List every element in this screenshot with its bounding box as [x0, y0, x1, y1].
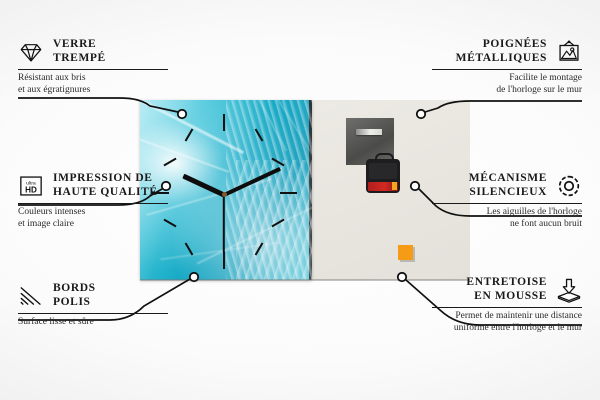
feature-mecanisme-silencieux[interactable]: MÉCANISME SILENCIEUX Les aiguilles de l'… [432, 172, 582, 230]
hanging-frame-icon [556, 39, 582, 65]
feature-description: Les aiguilles de l'horloge ne font aucun… [432, 207, 582, 230]
connector-dot-verre-trempe [178, 110, 186, 118]
feature-title: ENTRETOISE EN MOUSSE [466, 276, 547, 303]
ultra-hd-icon: ultra HD [18, 173, 44, 199]
feature-verre-trempe[interactable]: VERRE TREMPÉ Résistant aux bris et aux é… [18, 38, 168, 96]
gear-icon [556, 173, 582, 199]
diamond-icon [18, 39, 44, 65]
foam-spacer-icon [556, 277, 582, 303]
connector-poignees [425, 101, 582, 112]
feature-title: BORDS POLIS [53, 282, 96, 309]
title-rule [432, 203, 582, 204]
feature-impression-hd[interactable]: ultra HD IMPRESSION DE HAUTE QUALITÉ Cou… [18, 172, 168, 230]
title-rule [18, 203, 168, 204]
title-rule [18, 69, 168, 70]
feature-description: Résistant aux bris et aux égratignures [18, 73, 168, 96]
title-rule [18, 313, 168, 314]
feature-bords-polis[interactable]: BORDS POLIS Surface lisse et sûre [18, 282, 168, 329]
connector-dot-bords-polis [190, 273, 198, 281]
feature-title: IMPRESSION DE HAUTE QUALITÉ [53, 172, 158, 199]
connector-dot-poignees [417, 110, 425, 118]
polished-edge-icon [18, 283, 44, 309]
feature-title: VERRE TREMPÉ [53, 38, 106, 65]
feature-entretoise-en-mousse[interactable]: ENTRETOISE EN MOUSSE Permet de maintenir… [432, 276, 582, 334]
feature-description: Permet de maintenir une distance uniform… [432, 311, 582, 334]
feature-description: Facilite le montage de l'horloge sur le … [432, 73, 582, 96]
feature-title: MÉCANISME SILENCIEUX [469, 172, 547, 199]
title-rule [432, 69, 582, 70]
feature-poignees-metalliques[interactable]: POIGNÉES MÉTALLIQUES Facilite le montage… [432, 38, 582, 96]
title-rule [432, 307, 582, 308]
svg-text:HD: HD [25, 185, 37, 194]
infographic-canvas: VERRE TREMPÉ Résistant aux bris et aux é… [0, 0, 600, 400]
feature-title: POIGNÉES MÉTALLIQUES [456, 38, 547, 65]
connector-dot-entretoise [398, 273, 406, 281]
feature-description: Surface lisse et sûre [18, 317, 168, 329]
connector-verre-trempe [18, 98, 178, 112]
feature-description: Couleurs intenses et image claire [18, 207, 168, 230]
connector-dot-mecanisme [411, 182, 419, 190]
